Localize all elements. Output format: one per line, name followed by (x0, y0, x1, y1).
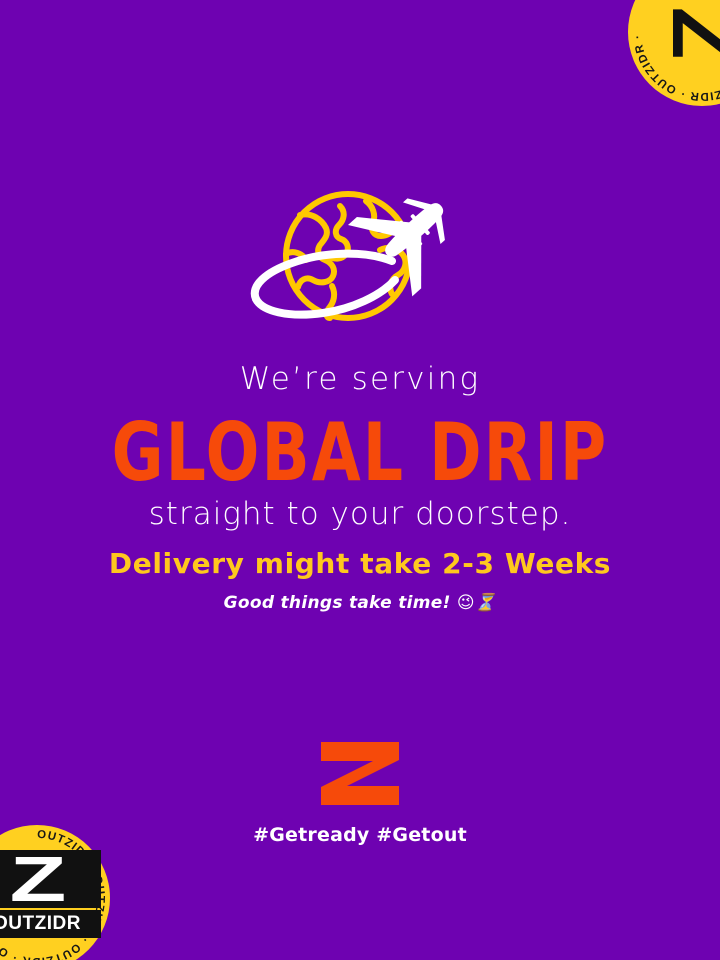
badge-center-letter-top-right: Z (659, 7, 720, 58)
badge-bottom-left: OUTZIDR · OUTZIDR · OUTZIDR · OUTZIDR · … (0, 825, 110, 960)
headline-line-1: We’re serving (0, 362, 720, 396)
globe-illustration (0, 168, 720, 343)
delivery-headline: Delivery might take 2-3 Weeks (0, 548, 720, 580)
globe-airplane-svg (240, 168, 480, 343)
badge-center-mark-bottom-left: Z OUTZIDR (0, 850, 101, 938)
headline-line-3: straight to your doorstep. (0, 497, 720, 531)
poster-canvas: OUTZIDR · OUTZIDR · OUTZIDR · OUTZIDR · … (0, 0, 720, 960)
brand-z-logo (321, 742, 399, 805)
delivery-block: Delivery might take 2-3 Weeks Good thing… (0, 548, 720, 614)
delivery-subtext: Good things take time! 😉⏳ (0, 593, 720, 613)
badge-wordmark: OUTZIDR (0, 913, 81, 935)
headline-line-2: GLOBAL DRIP (0, 410, 720, 495)
badge-z-block: Z (0, 850, 101, 908)
headline-block: We’re serving GLOBAL DRIP straight to yo… (0, 362, 720, 531)
footer-hashtags: #Getready #Getout (253, 824, 467, 846)
badge-top-right: OUTZIDR · OUTZIDR · OUTZIDR · OUTZIDR · … (628, 0, 720, 106)
badge-z-glyph: Z (10, 847, 64, 911)
airplane-icon (348, 170, 473, 296)
